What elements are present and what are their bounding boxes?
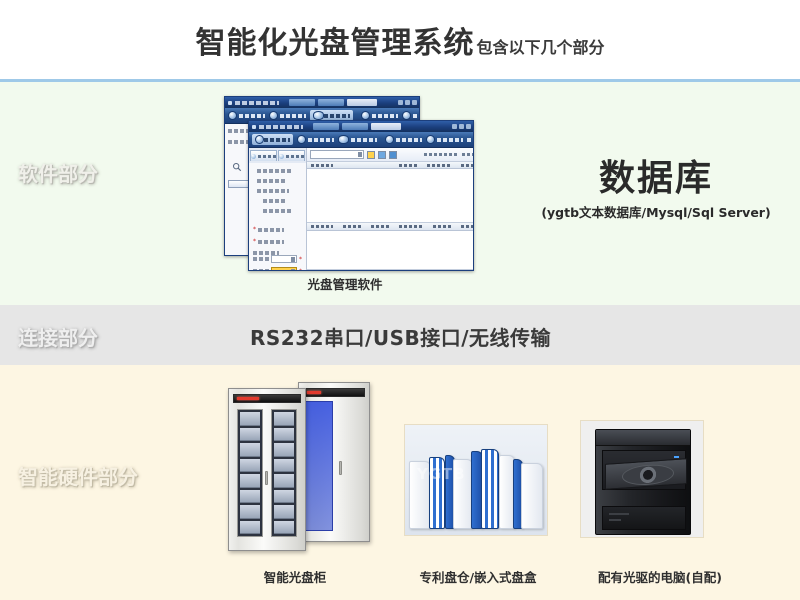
window-tab[interactable]: [313, 123, 339, 130]
pc-tower: [595, 429, 691, 535]
settings-icon: [361, 111, 370, 120]
slide-root: 智能化光盘管理系统 包含以下几个部分 软件部分: [0, 0, 800, 600]
disc-out-icon: [297, 135, 306, 144]
settings-icon: [385, 135, 394, 144]
disc-query-icon: [338, 135, 349, 144]
window-titlebar: [249, 121, 473, 132]
page-title-sub: 包含以下几个部分: [476, 34, 604, 58]
window-controls[interactable]: [452, 124, 471, 129]
page-title-main: 智能化光盘管理系统: [195, 18, 474, 62]
window-tabs[interactable]: [313, 123, 401, 130]
software-screenshot-group: * * * *: [224, 96, 474, 271]
toolbar-button[interactable]: [402, 111, 420, 120]
column-header[interactable]: [371, 225, 389, 228]
pc-top-panel: [596, 430, 690, 446]
app-icon: [228, 101, 232, 105]
search-status: [424, 153, 474, 156]
report-icon: [402, 111, 411, 120]
disc-out-icon: [269, 111, 278, 120]
database-block: 数据库 (ygtb文本数据库/Mysql/Sql Server): [520, 160, 792, 221]
column-header[interactable]: [399, 225, 423, 228]
photo-pc-with-optical-drive: [580, 420, 704, 538]
required-asterisk: *: [299, 268, 302, 272]
app-icon: [252, 125, 256, 129]
led-display-icon: [307, 391, 321, 394]
cabinet-right: [298, 382, 370, 542]
app-window-front[interactable]: * * * *: [248, 120, 474, 271]
disc-in-icon: [228, 111, 237, 120]
window-tab[interactable]: [289, 99, 315, 106]
refresh-icon: [426, 135, 435, 144]
data-grid-top[interactable]: [307, 169, 474, 223]
grid-header-top[interactable]: [307, 162, 474, 169]
window-toolbar[interactable]: [249, 132, 473, 148]
tree-item[interactable]: [257, 169, 293, 173]
cabinet-glass-door-right: [271, 409, 297, 537]
form-field-highlighted[interactable]: *: [253, 267, 302, 271]
sidebar-required-fields[interactable]: * *: [249, 227, 306, 255]
window-title-text: [259, 125, 303, 129]
toolbar-button[interactable]: [297, 135, 334, 144]
pc-front-panel: [602, 506, 686, 530]
cabinet-blue-lighting: [303, 401, 333, 531]
window-tab[interactable]: [318, 99, 344, 106]
photo-disc-trays: YGTB: [404, 424, 548, 536]
disc-in-icon: [255, 135, 264, 144]
toolbar-button[interactable]: [228, 111, 265, 120]
sidebar-item[interactable]: [228, 140, 248, 144]
toolbar-button-active[interactable]: [252, 134, 293, 145]
required-asterisk: *: [253, 227, 256, 233]
window-title-text: [235, 101, 279, 105]
caption-cabinet: 智能光盘柜: [205, 567, 385, 586]
photo-smart-disc-cabinet: [218, 382, 378, 557]
column-header[interactable]: [461, 164, 474, 167]
tab-icon: [279, 154, 284, 159]
window-tabs[interactable]: [289, 99, 377, 106]
disc-icon: [622, 463, 674, 487]
toolbar-button[interactable]: [467, 138, 474, 142]
connection-methods-text: RS232串口/USB接口/无线传输: [250, 322, 551, 351]
tab-icon: [251, 154, 256, 159]
column-header[interactable]: [311, 164, 333, 167]
sidebar-tab-1[interactable]: [250, 150, 277, 161]
search-disc-icon: [313, 111, 324, 120]
cabinet-glass-door-left: [237, 409, 263, 537]
tree-item[interactable]: [263, 209, 291, 213]
cabinet-display-panel: [233, 394, 301, 403]
window-sidebar[interactable]: * * * *: [249, 148, 307, 270]
magnifier-icon[interactable]: [232, 157, 242, 167]
form-field[interactable]: *: [253, 255, 302, 263]
close-icon[interactable]: [412, 100, 417, 105]
sidebar-tabs[interactable]: [249, 148, 306, 163]
cabinet-display-panel: [303, 388, 365, 397]
cabinet-handle: [265, 471, 268, 485]
tree-item[interactable]: [257, 179, 287, 183]
flag-blue-icon[interactable]: [378, 151, 386, 159]
caption-software: 光盘管理软件: [240, 274, 450, 293]
caption-disc-trays: 专利盘仓/嵌入式盘盒: [388, 567, 568, 586]
maximize-icon[interactable]: [459, 124, 464, 129]
toolbar-button[interactable]: [426, 135, 463, 144]
sidebar-tree[interactable]: [249, 163, 306, 213]
required-row[interactable]: *: [253, 239, 306, 245]
page-title: 智能化光盘管理系统 包含以下几个部分: [195, 18, 604, 62]
tree-item[interactable]: [257, 189, 289, 193]
sidebar-tab-2[interactable]: [278, 150, 305, 161]
led-display-icon: [237, 397, 259, 400]
flag-blue2-icon[interactable]: [389, 151, 397, 159]
database-subtitle: (ygtb文本数据库/Mysql/Sql Server): [520, 202, 792, 221]
window-tab-selected[interactable]: [371, 123, 401, 130]
cabinet-handle: [339, 461, 342, 475]
minimize-icon[interactable]: [452, 124, 457, 129]
search-input[interactable]: [310, 150, 364, 159]
band-label-connection: 连接部分: [18, 322, 98, 351]
flag-yellow-icon[interactable]: [367, 151, 375, 159]
column-header[interactable]: [461, 225, 474, 228]
data-grid-bottom[interactable]: [307, 231, 474, 270]
text-input-highlighted[interactable]: [271, 267, 297, 271]
required-asterisk: *: [299, 256, 302, 263]
toolbar-button[interactable]: [338, 135, 377, 144]
optical-drive-tray: [605, 458, 687, 490]
watermark-text: YGTB: [417, 465, 466, 483]
column-header[interactable]: [427, 164, 451, 167]
search-bar[interactable]: [307, 148, 474, 162]
tree-item[interactable]: [263, 199, 287, 203]
database-title: 数据库: [520, 160, 792, 198]
band-label-software: 软件部分: [18, 158, 98, 187]
minimize-icon[interactable]: [398, 100, 403, 105]
optical-drive-bay: [602, 450, 686, 490]
window-titlebar: [225, 97, 419, 108]
band-label-hardware: 智能硬件部分: [18, 461, 138, 490]
window-body: * * * *: [249, 148, 473, 270]
required-asterisk: *: [253, 239, 256, 245]
grid-header-bottom[interactable]: [307, 223, 474, 230]
column-header[interactable]: [311, 225, 333, 228]
drive-led-icon: [674, 456, 679, 458]
window-controls[interactable]: [398, 100, 417, 105]
toolbar-button[interactable]: [361, 111, 398, 120]
sidebar-form[interactable]: * *: [249, 255, 306, 271]
window-content: [307, 148, 474, 270]
column-header[interactable]: [343, 225, 361, 228]
toolbar-button[interactable]: [269, 111, 306, 120]
maximize-icon[interactable]: [405, 100, 410, 105]
toolbar-button[interactable]: [385, 135, 422, 144]
window-tab-selected[interactable]: [347, 99, 377, 106]
page-header: 智能化光盘管理系统 包含以下几个部分: [0, 0, 800, 80]
caption-pc: 配有光驱的电脑(自配): [560, 567, 760, 586]
window-tab[interactable]: [342, 123, 368, 130]
text-input[interactable]: [271, 255, 297, 263]
column-header[interactable]: [399, 164, 417, 167]
column-header[interactable]: [433, 225, 451, 228]
required-row[interactable]: *: [253, 227, 306, 233]
close-icon[interactable]: [466, 124, 471, 129]
cabinet-left: [228, 388, 306, 551]
